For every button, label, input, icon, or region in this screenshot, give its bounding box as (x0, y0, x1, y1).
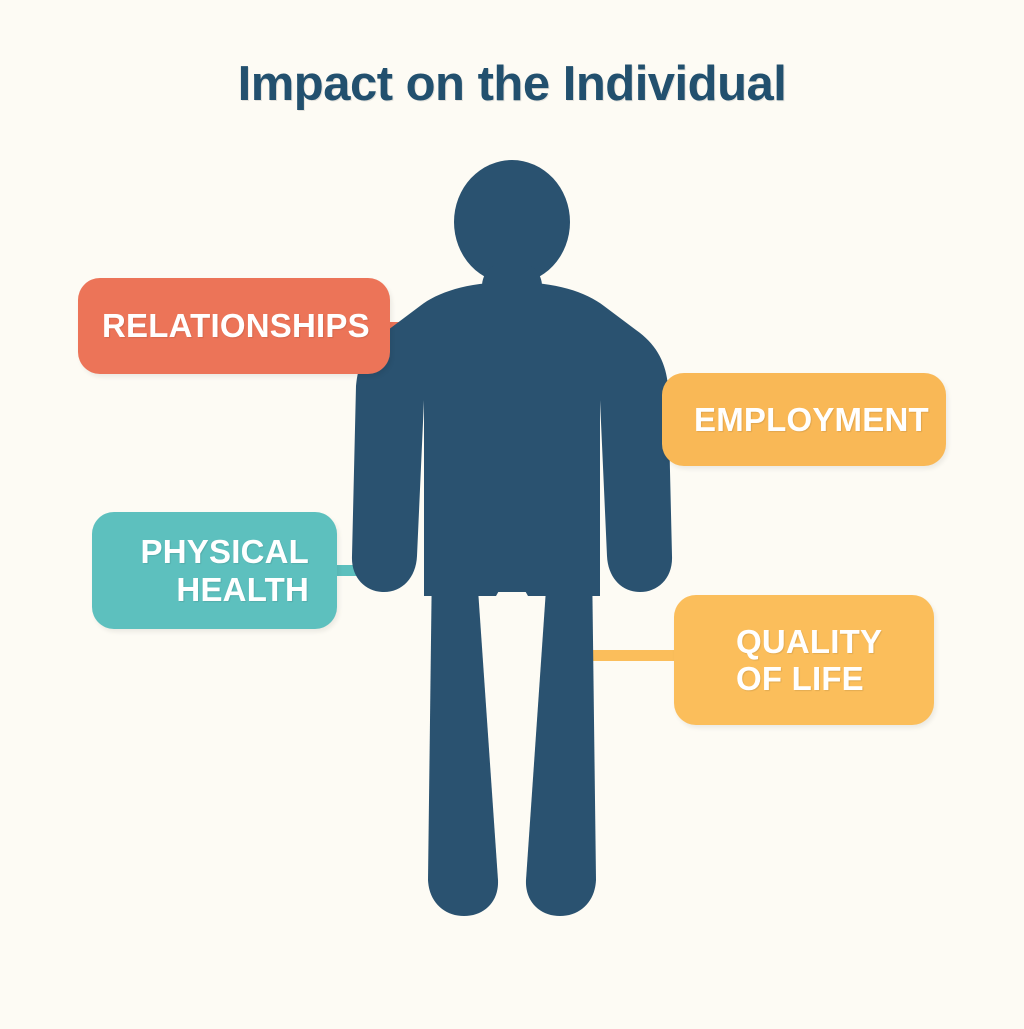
node-physical-health[interactable]: PHYSICAL HEALTH (92, 512, 337, 629)
infographic-canvas: Impact on the Individual RELATI (0, 0, 1024, 1024)
node-employment-label: EMPLOYMENT (694, 401, 946, 438)
node-relationships-label: RELATIONSHIPS (102, 307, 390, 344)
node-physical-health-line2: HEALTH (176, 571, 309, 608)
node-employment[interactable]: EMPLOYMENT (662, 373, 946, 466)
node-relationships[interactable]: RELATIONSHIPS (78, 278, 390, 374)
node-physical-health-label: PHYSICAL HEALTH (92, 533, 309, 608)
node-quality-of-life-line2: OF LIFE (736, 660, 864, 697)
node-quality-of-life-label: QUALITY OF LIFE (736, 623, 934, 698)
node-quality-of-life-line1: QUALITY (736, 623, 882, 660)
node-quality-of-life[interactable]: QUALITY OF LIFE (674, 595, 934, 725)
node-physical-health-line1: PHYSICAL (141, 533, 309, 570)
